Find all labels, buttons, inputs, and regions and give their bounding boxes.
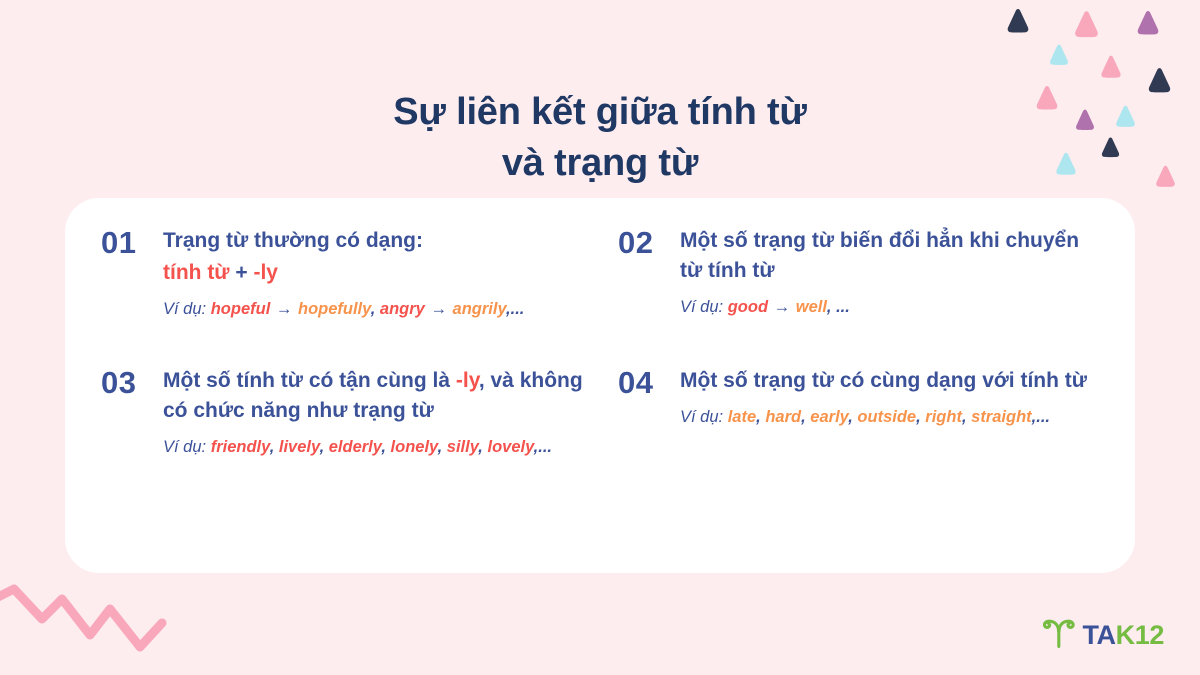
example-token: , ... (827, 298, 850, 316)
point-heading-03: Một số tính từ có tận cùng là -ly, và kh… (163, 366, 584, 426)
example-token: angrily (453, 300, 507, 318)
example-token: angry (380, 300, 425, 318)
example-token: , (320, 438, 325, 456)
point-number-04: 04 (618, 366, 680, 399)
point-item-03: 03 Một số tính từ có tận cùng là -ly, và… (85, 366, 584, 476)
point-number-03: 03 (101, 366, 163, 399)
point-subheading-01: tính từ + -ly (163, 258, 584, 288)
point-example-tokens-03: friendly, lively, elderly, lonely, silly… (211, 438, 552, 456)
point-body-02: Một số trạng từ biến đổi hẳn khi chuyển … (680, 226, 1101, 336)
example-token: → (429, 300, 448, 318)
example-token: → (773, 298, 792, 316)
example-token: late (728, 408, 756, 426)
example-token: , (916, 408, 921, 426)
point-example-tokens-02: good → well, ... (728, 298, 850, 316)
zigzag-decoration (0, 577, 190, 657)
example-token: lonely (391, 438, 438, 456)
example-token: outside (857, 408, 916, 426)
page-title: Sự liên kết giữa tính từ và trạng từ (0, 87, 1200, 187)
triangle-icon (1070, 8, 1103, 46)
sprout-icon (1043, 618, 1075, 653)
point-heading-03-accent: -ly (456, 369, 479, 392)
example-token: early (810, 408, 848, 426)
brand-name-part-b: K12 (1116, 620, 1164, 650)
example-token: hopefully (298, 300, 371, 318)
zigzag-icon (0, 577, 190, 657)
point-example-03: Ví dụ: friendly, lively, elderly, lonely… (163, 435, 584, 460)
point-heading-01: Trạng từ thường có dạng: (163, 226, 584, 256)
point-subheading-01-term: tính từ (163, 261, 230, 284)
example-token: , (801, 408, 806, 426)
point-heading-03-before: Một số tính từ có tận cùng là (163, 369, 456, 392)
example-token: friendly (211, 438, 270, 456)
example-token: elderly (329, 438, 382, 456)
point-body-04: Một số trạng từ có cùng dạng với tính từ… (680, 366, 1101, 446)
point-number-01: 01 (101, 226, 163, 259)
point-item-04: 04 Một số trạng từ có cùng dạng với tính… (602, 366, 1101, 476)
page-title-line-1: Sự liên kết giữa tính từ (0, 87, 1200, 137)
example-token: hopeful (211, 300, 271, 318)
points-grid: 01 Trạng từ thường có dạng: tính từ + -l… (85, 226, 1101, 476)
point-example-label-01: Ví dụ: (163, 300, 206, 318)
example-token: lovely (487, 438, 533, 456)
example-token: , (438, 438, 443, 456)
example-token: silly (447, 438, 479, 456)
point-example-tokens-04: late, hard, early, outside, right, strai… (728, 408, 1050, 426)
triangle-icon (1097, 53, 1125, 86)
point-body-03: Một số tính từ có tận cùng là -ly, và kh… (163, 366, 584, 476)
example-token: , (371, 300, 376, 318)
triangle-icon (1003, 6, 1033, 41)
point-example-04: Ví dụ: late, hard, early, outside, right… (680, 405, 1101, 430)
example-token: right (925, 408, 962, 426)
brand-name-part-a: TA (1082, 620, 1115, 650)
point-example-label-03: Ví dụ: (163, 438, 206, 456)
example-token: ,... (534, 438, 552, 456)
point-subheading-01-suffix: -ly (253, 261, 278, 284)
point-example-tokens-01: hopeful → hopefully, angry → angrily,... (211, 300, 525, 318)
example-token: , (270, 438, 275, 456)
example-token: → (275, 300, 294, 318)
point-body-01: Trạng từ thường có dạng: tính từ + -ly V… (163, 226, 584, 338)
triangle-icon (1046, 42, 1072, 73)
brand-logo: TAK12 (1043, 618, 1164, 653)
example-token: , (478, 438, 483, 456)
example-token: good (728, 298, 768, 316)
example-token: ,... (506, 300, 524, 318)
point-item-01: 01 Trạng từ thường có dạng: tính từ + -l… (85, 226, 584, 338)
example-token: , (756, 408, 761, 426)
example-token: straight (971, 408, 1032, 426)
example-token: , (962, 408, 967, 426)
triangle-icon (1133, 8, 1163, 43)
example-token: well (796, 298, 827, 316)
point-example-label-04: Ví dụ: (680, 408, 723, 426)
example-token: , (381, 438, 386, 456)
point-example-01: Ví dụ: hopeful → hopefully, angry → angr… (163, 297, 584, 322)
content-card: 01 Trạng từ thường có dạng: tính từ + -l… (65, 198, 1135, 573)
brand-wordmark: TAK12 (1082, 622, 1164, 649)
point-number-02: 02 (618, 226, 680, 259)
example-token: hard (765, 408, 801, 426)
example-token: lively (279, 438, 320, 456)
point-heading-02: Một số trạng từ biến đổi hẳn khi chuyển … (680, 226, 1101, 286)
point-item-02: 02 Một số trạng từ biến đổi hẳn khi chuy… (602, 226, 1101, 338)
point-example-02: Ví dụ: good → well, ... (680, 295, 1101, 320)
example-token: ,... (1032, 408, 1050, 426)
point-example-label-02: Ví dụ: (680, 298, 723, 316)
example-token: , (848, 408, 853, 426)
point-heading-04: Một số trạng từ có cùng dạng với tính từ (680, 366, 1101, 396)
page-title-line-2: và trạng từ (0, 138, 1200, 188)
point-subheading-01-operator: + (235, 261, 247, 284)
